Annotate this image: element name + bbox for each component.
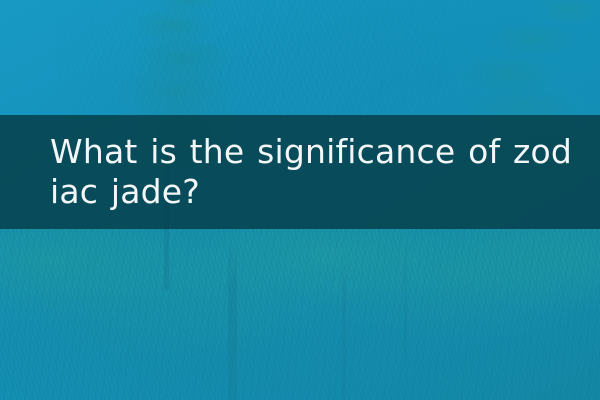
question-text: What is the significance of zod iac jade… <box>0 132 596 212</box>
question-image-card: What is the significance of zod iac jade… <box>0 0 600 400</box>
caption-band: What is the significance of zod iac jade… <box>0 115 600 229</box>
